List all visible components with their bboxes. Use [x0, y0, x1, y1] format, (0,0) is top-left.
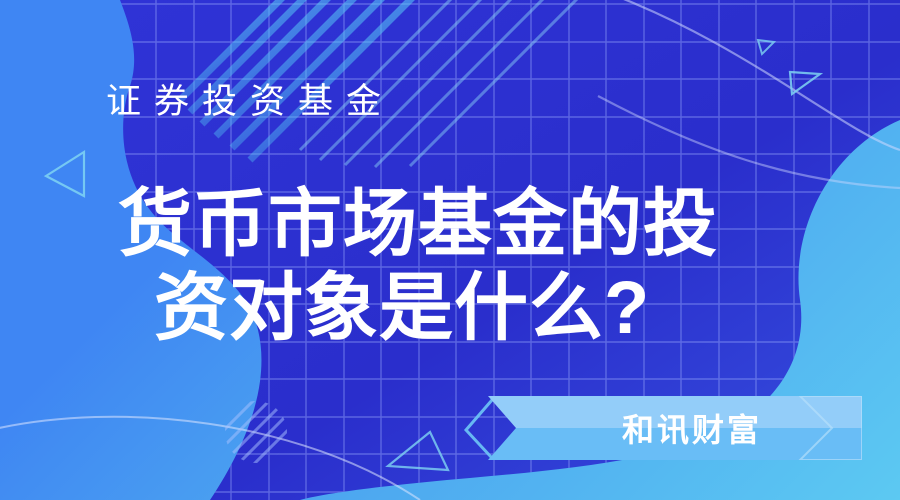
- title-line-2: 资对象是什么?: [118, 266, 758, 350]
- striped-circle: [168, 338, 340, 500]
- poster-canvas: 证券投资基金 货币市场基金的投 资对象是什么? 和讯财富: [0, 0, 900, 500]
- triangle-outline-left: [46, 152, 84, 196]
- poster-title: 货币市场基金的投 资对象是什么?: [118, 182, 758, 350]
- sweeping-curve-line-2: [598, 96, 900, 188]
- brand-label: 和讯财富: [470, 396, 862, 460]
- sweeping-curve-line-3: [0, 417, 420, 500]
- title-line-1: 货币市场基金的投: [118, 182, 718, 265]
- sweeping-curve-line: [600, 0, 900, 150]
- triangle-outline-bottom-center: [388, 432, 448, 470]
- poster-subtitle: 证券投资基金: [106, 80, 394, 124]
- triangle-outline-top-right: [758, 40, 774, 54]
- brand-banner: 和讯财富: [470, 396, 862, 460]
